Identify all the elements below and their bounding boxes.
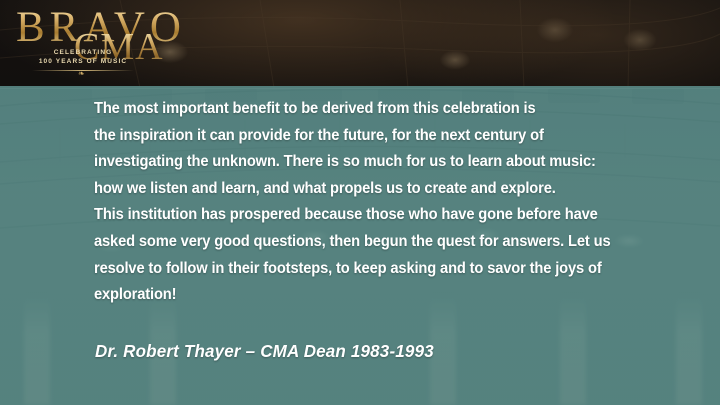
- quote-line: how we listen and learn, and what propel…: [94, 176, 667, 203]
- logo-tagline-line-1: Celebrating: [29, 48, 137, 57]
- quote-block: The most important benefit to be derived…: [94, 96, 694, 309]
- bravo-cma-logo: BRAVO CMA Celebrating 100 Years of Music…: [12, 4, 192, 84]
- logo-ornament-icon: ❧: [78, 70, 85, 78]
- logo-tagline: Celebrating 100 Years of Music: [29, 48, 137, 67]
- quote-attribution: Dr. Robert Thayer – CMA Dean 1983-1993: [95, 341, 434, 362]
- quote-line: This institution has prospered because t…: [94, 202, 667, 229]
- quote-line: investigating the unknown. There is so m…: [94, 149, 667, 176]
- quote-line: resolve to follow in their footsteps, to…: [94, 256, 667, 283]
- logo-tagline-line-2: 100 Years of Music: [29, 57, 137, 66]
- quote-line: exploration!: [94, 282, 667, 309]
- quote-line: the inspiration it can provide for the f…: [94, 123, 667, 150]
- quote-line: asked some very good questions, then beg…: [94, 229, 667, 256]
- overlay-top-edge: [0, 86, 720, 89]
- presentation-slide: BRAVO CMA Celebrating 100 Years of Music…: [0, 0, 720, 405]
- quote-line: The most important benefit to be derived…: [94, 96, 667, 123]
